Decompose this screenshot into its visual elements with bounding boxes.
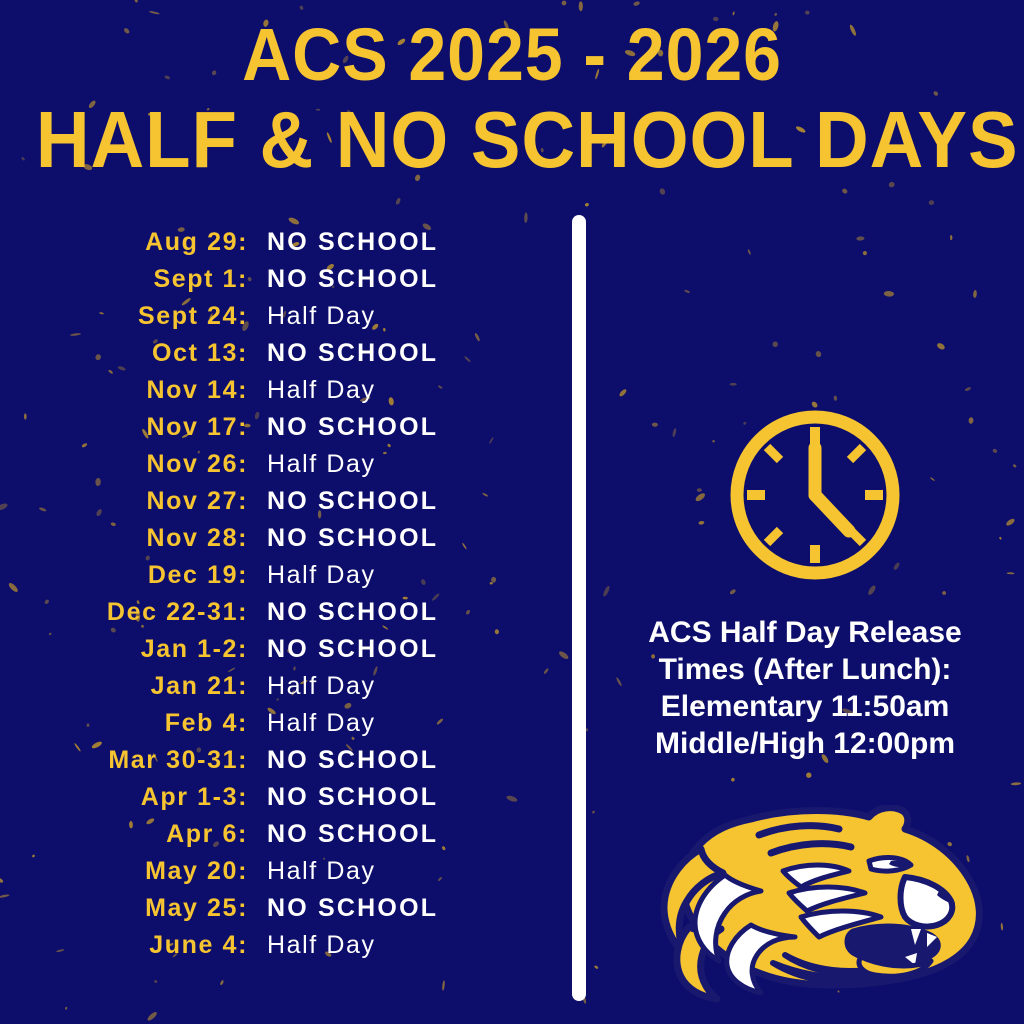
schedule-value: NO SCHOOL bbox=[248, 339, 438, 368]
schedule-value: Half Day bbox=[248, 302, 376, 331]
schedule-value: NO SCHOOL bbox=[248, 746, 438, 775]
release-times-block: ACS Half Day Release Times (After Lunch)… bbox=[586, 614, 1024, 762]
page-title: ACS 2025 - 2026 HALF & NO SCHOOL DAYS bbox=[0, 18, 1024, 180]
release-line-1: ACS Half Day Release bbox=[586, 614, 1024, 651]
schedule-date: Sept 24: bbox=[0, 302, 248, 331]
schedule-date: Nov 17: bbox=[0, 413, 248, 442]
schedule-row: Feb 4:Half Day bbox=[0, 709, 560, 746]
title-line-2: HALF & NO SCHOOL DAYS bbox=[36, 100, 988, 180]
title-line-1: ACS 2025 - 2026 bbox=[41, 18, 983, 92]
schedule-value: NO SCHOOL bbox=[248, 820, 438, 849]
schedule-value: Half Day bbox=[248, 561, 376, 590]
schedule-list: Aug 29:NO SCHOOLSept 1:NO SCHOOLSept 24:… bbox=[0, 228, 560, 968]
schedule-date: Nov 14: bbox=[0, 376, 248, 405]
schedule-row: Jan 21:Half Day bbox=[0, 672, 560, 709]
schedule-row: Jan 1-2:NO SCHOOL bbox=[0, 635, 560, 672]
schedule-row: Nov 14:Half Day bbox=[0, 376, 560, 413]
schedule-value: Half Day bbox=[248, 857, 376, 886]
release-line-2: Times (After Lunch): bbox=[586, 651, 1024, 688]
schedule-row: Apr 6:NO SCHOOL bbox=[0, 820, 560, 857]
schedule-date: Feb 4: bbox=[0, 709, 248, 738]
schedule-date: Apr 1-3: bbox=[0, 783, 248, 812]
schedule-date: Oct 13: bbox=[0, 339, 248, 368]
schedule-row: Aug 29:NO SCHOOL bbox=[0, 228, 560, 265]
schedule-date: May 25: bbox=[0, 894, 248, 923]
schedule-value: NO SCHOOL bbox=[248, 228, 438, 257]
schedule-row: May 20:Half Day bbox=[0, 857, 560, 894]
release-line-4: Middle/High 12:00pm bbox=[586, 725, 1024, 762]
schedule-value: Half Day bbox=[248, 672, 376, 701]
schedule-date: Jan 21: bbox=[0, 672, 248, 701]
schedule-value: Half Day bbox=[248, 450, 376, 479]
schedule-date: Jan 1-2: bbox=[0, 635, 248, 664]
schedule-value: Half Day bbox=[248, 931, 376, 960]
schedule-date: Apr 6: bbox=[0, 820, 248, 849]
schedule-row: Nov 26:Half Day bbox=[0, 450, 560, 487]
schedule-date: June 4: bbox=[0, 931, 248, 960]
schedule-value: Half Day bbox=[248, 709, 376, 738]
schedule-row: Sept 24:Half Day bbox=[0, 302, 560, 339]
schedule-row: Mar 30-31:NO SCHOOL bbox=[0, 746, 560, 783]
schedule-row: Oct 13:NO SCHOOL bbox=[0, 339, 560, 376]
schedule-row: Nov 27:NO SCHOOL bbox=[0, 487, 560, 524]
schedule-value: NO SCHOOL bbox=[248, 487, 438, 516]
schedule-row: Dec 19:Half Day bbox=[0, 561, 560, 598]
schedule-row: Dec 22-31:NO SCHOOL bbox=[0, 598, 560, 635]
schedule-date: May 20: bbox=[0, 857, 248, 886]
schedule-value: NO SCHOOL bbox=[248, 894, 438, 923]
schedule-date: Aug 29: bbox=[0, 228, 248, 257]
schedule-row: Nov 28:NO SCHOOL bbox=[0, 524, 560, 561]
schedule-date: Mar 30-31: bbox=[0, 746, 248, 775]
clock-icon bbox=[725, 405, 905, 585]
schedule-row: Nov 17:NO SCHOOL bbox=[0, 413, 560, 450]
schedule-row: June 4:Half Day bbox=[0, 931, 560, 968]
schedule-value: NO SCHOOL bbox=[248, 598, 438, 627]
schedule-value: NO SCHOOL bbox=[248, 783, 438, 812]
schedule-date: Nov 28: bbox=[0, 524, 248, 553]
schedule-value: NO SCHOOL bbox=[248, 524, 438, 553]
schedule-value: NO SCHOOL bbox=[248, 265, 438, 294]
schedule-date: Sept 1: bbox=[0, 265, 248, 294]
schedule-value: NO SCHOOL bbox=[248, 635, 438, 664]
tiger-head-logo bbox=[655, 805, 985, 1020]
release-line-3: Elementary 11:50am bbox=[586, 688, 1024, 725]
vertical-divider bbox=[572, 215, 586, 1001]
schedule-date: Nov 27: bbox=[0, 487, 248, 516]
schedule-row: May 25:NO SCHOOL bbox=[0, 894, 560, 931]
schedule-row: Sept 1:NO SCHOOL bbox=[0, 265, 560, 302]
schedule-value: NO SCHOOL bbox=[248, 413, 438, 442]
schedule-date: Dec 22-31: bbox=[0, 598, 248, 627]
schedule-date: Dec 19: bbox=[0, 561, 248, 590]
schedule-row: Apr 1-3:NO SCHOOL bbox=[0, 783, 560, 820]
schedule-value: Half Day bbox=[248, 376, 376, 405]
schedule-date: Nov 26: bbox=[0, 450, 248, 479]
